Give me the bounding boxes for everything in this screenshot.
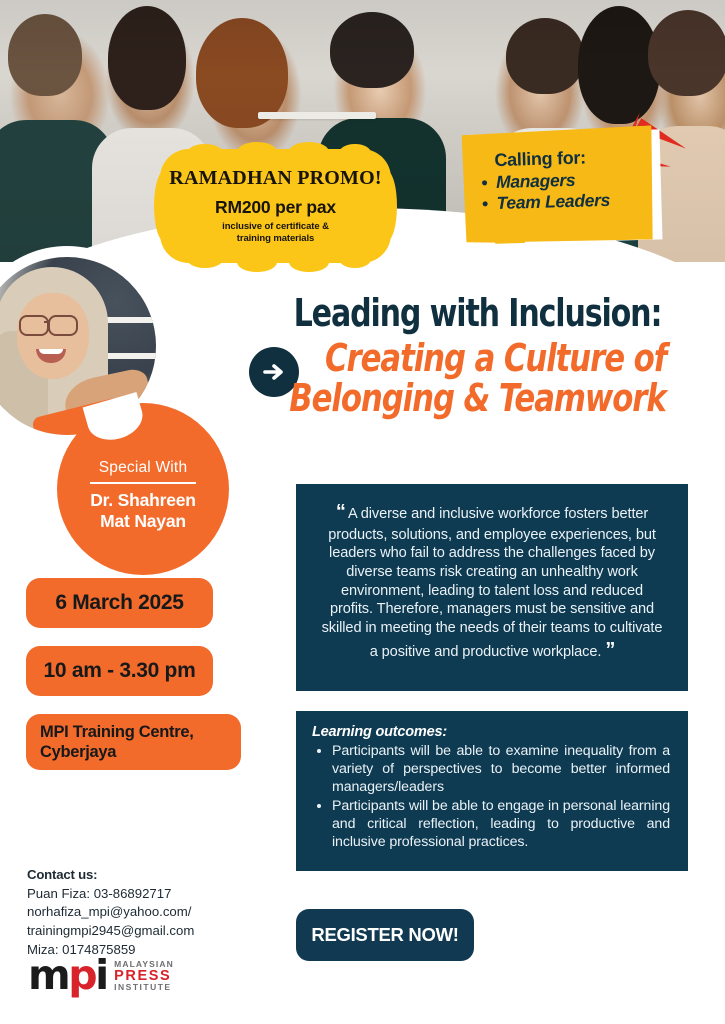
register-now-button[interactable]: REGISTER NOW! bbox=[296, 909, 474, 961]
logo-letter-m: m bbox=[28, 955, 68, 996]
logo-letter-i: i bbox=[95, 955, 108, 996]
title-line-2: Creating a Culture of bbox=[277, 339, 678, 377]
contact-email-2[interactable]: trainingmpi2945@gmail.com bbox=[27, 922, 194, 941]
title-line-3: Belonging & Teamwork bbox=[277, 379, 678, 417]
speaker-glasses-lens bbox=[48, 315, 78, 336]
logo-word-press: PRESS bbox=[114, 969, 174, 984]
learning-outcomes-heading: Learning outcomes: bbox=[312, 724, 670, 740]
contact-email-1[interactable]: norhafiza_mpi@yahoo.com/ bbox=[27, 903, 194, 922]
special-with-divider bbox=[90, 482, 196, 484]
speaker-face bbox=[17, 293, 89, 379]
speaker-name-line-1: Dr. Shahreen bbox=[90, 490, 196, 510]
calling-for-list: Managers Team Leaders bbox=[479, 167, 660, 213]
learning-outcomes-list: Participants will be able to examine ine… bbox=[312, 742, 670, 851]
venue-line-2: Cyberjaya bbox=[40, 743, 116, 761]
speaker-photo-shelf bbox=[100, 317, 156, 323]
contact-line-1: Puan Fiza: 03-86892717 bbox=[27, 885, 194, 904]
learning-outcome-item: Participants will be able to examine ine… bbox=[332, 742, 670, 796]
logo-wordmark: MALAYSIAN PRESS INSTITUTE bbox=[114, 960, 174, 992]
calling-for-speech-bubble: Calling for: Managers Team Leaders bbox=[463, 128, 668, 268]
speaker-glasses-lens bbox=[19, 315, 49, 336]
quote-open-mark: “ bbox=[336, 501, 345, 523]
page-title: Leading with Inclusion: Creating a Cultu… bbox=[255, 295, 700, 417]
speaker-photo-shelf bbox=[106, 353, 156, 359]
promo-note-line-1: inclusive of certificate & bbox=[222, 221, 329, 232]
speaker-name: Dr. Shahreen Mat Nayan bbox=[90, 490, 196, 532]
contact-heading: Contact us: bbox=[27, 866, 194, 885]
event-venue-pill: MPI Training Centre, Cyberjaya bbox=[26, 714, 241, 770]
event-date-pill: 6 March 2025 bbox=[26, 578, 213, 628]
learning-outcome-item: Participants will be able to engage in p… bbox=[332, 797, 670, 851]
mpi-logo: m p i MALAYSIAN PRESS INSTITUTE bbox=[28, 955, 174, 996]
quote-text-block: “ A diverse and inclusive workforce fost… bbox=[318, 500, 666, 663]
promo-note: inclusive of certificate & training mate… bbox=[222, 221, 329, 245]
venue-line-1: MPI Training Centre, bbox=[40, 723, 194, 741]
special-with-badge: Special With Dr. Shahreen Mat Nayan bbox=[57, 403, 229, 575]
promo-headline: RAMADHAN PROMO! bbox=[169, 167, 381, 190]
event-time-pill: 10 am - 3.30 pm bbox=[26, 646, 213, 696]
quote-panel: “ A diverse and inclusive workforce fost… bbox=[296, 484, 688, 691]
logo-letter-p: p bbox=[68, 955, 95, 996]
promo-note-line-2: training materials bbox=[237, 233, 314, 244]
contact-block: Contact us: Puan Fiza: 03-86892717 norha… bbox=[27, 866, 194, 960]
poster-root: RAMADHAN PROMO! RM200 per pax inclusive … bbox=[0, 0, 725, 1024]
promo-price: RM200 per pax bbox=[215, 197, 336, 218]
special-with-label: Special With bbox=[99, 459, 188, 477]
speaker-glasses-bridge bbox=[44, 321, 50, 323]
ramadhan-promo-badge: RAMADHAN PROMO! RM200 per pax inclusive … bbox=[163, 152, 388, 260]
speaker-name-line-2: Mat Nayan bbox=[100, 511, 186, 531]
logo-word-institute: INSTITUTE bbox=[114, 983, 174, 992]
quote-close-mark: ” bbox=[605, 639, 614, 661]
title-line-1: Leading with Inclusion: bbox=[282, 295, 674, 332]
quote-text: A diverse and inclusive workforce foster… bbox=[322, 506, 663, 660]
learning-outcomes-panel: Learning outcomes: Participants will be … bbox=[296, 711, 688, 871]
